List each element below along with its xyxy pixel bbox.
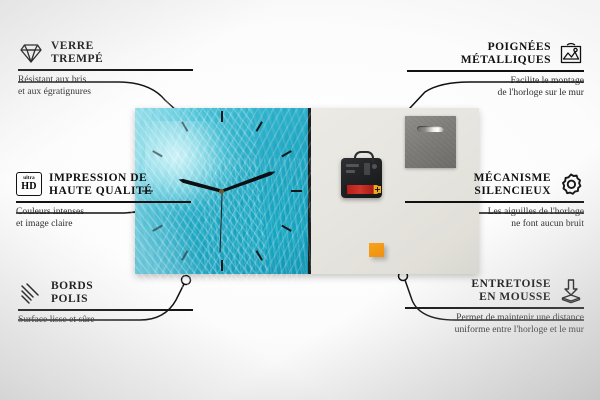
callout-description: Résistant aux briset aux égratignures (18, 74, 193, 97)
callout-description: Les aiguilles de l'horlogene font aucun … (405, 206, 584, 229)
foam-spacer (369, 243, 384, 257)
clock-second-hand (219, 191, 223, 253)
divider (18, 309, 193, 311)
gear-icon (558, 172, 584, 198)
hanging-loop (354, 151, 374, 163)
picture-frame-icon (558, 41, 584, 67)
callout-description: Couleurs intenseset image claire (16, 206, 191, 229)
hanger-slot (417, 126, 444, 132)
divider (16, 201, 191, 203)
hour-tick (152, 150, 163, 157)
divider (405, 201, 584, 203)
hour-tick (221, 111, 223, 122)
mechanism-detail (372, 164, 377, 169)
callout-bords-polis: BORDSPOLIS Surface lisse et sûre (18, 280, 193, 326)
mechanism-detail (364, 163, 370, 175)
mechanism-detail (346, 164, 359, 167)
callout-title: BORDSPOLIS (51, 280, 93, 306)
hour-tick (281, 225, 292, 232)
callout-verre-trempe: VERRETREMPÉ Résistant aux briset aux égr… (18, 40, 193, 97)
quartz-mechanism (341, 158, 382, 198)
infographic-canvas: VERRETREMPÉ Résistant aux briset aux égr… (0, 0, 600, 400)
callout-title: MÉCANISMESILENCIEUX (474, 172, 551, 198)
clock-center-cap (219, 189, 224, 194)
hour-tick (255, 250, 262, 261)
hour-tick (181, 121, 188, 132)
clock-minute-hand (221, 170, 276, 193)
callout-title: IMPRESSION DEHAUTE QUALITÉ (49, 172, 152, 198)
callout-poignees-metalliques: POIGNÉESMÉTALLIQUES Facilite le montaged… (407, 41, 584, 98)
hour-tick (281, 150, 292, 157)
callout-description: Permet de maintenir une distanceuniforme… (405, 312, 584, 335)
hour-tick (255, 121, 262, 132)
battery-plus-marker (374, 186, 381, 193)
divider (407, 70, 584, 72)
callout-entretoise-en-mousse: ENTRETOISEEN MOUSSE Permet de maintenir … (405, 278, 584, 335)
mechanism-detail (346, 170, 355, 173)
hour-tick (291, 190, 302, 192)
hd-label: HD (21, 182, 37, 192)
callout-title: ENTRETOISEEN MOUSSE (471, 278, 551, 304)
arrow-down-pad-icon (558, 278, 584, 304)
callout-title: VERRETREMPÉ (51, 40, 103, 66)
callout-mecanisme-silencieux: MÉCANISMESILENCIEUX Les aiguilles de l'h… (405, 172, 584, 229)
divider (18, 69, 193, 71)
callout-description: Facilite le montagede l'horloge sur le m… (407, 75, 584, 98)
battery (344, 185, 378, 194)
hour-tick (181, 250, 188, 261)
ultra-hd-icon: ultra HD (16, 172, 42, 198)
metal-hanger-plate (405, 116, 456, 168)
callout-description: Surface lisse et sûre (18, 314, 193, 326)
callout-impression-haute-qualite: ultra HD IMPRESSION DEHAUTE QUALITÉ Coul… (16, 172, 191, 229)
diamond-icon (18, 40, 44, 66)
divider (405, 307, 584, 309)
polished-edges-icon (18, 280, 44, 306)
hour-tick (221, 260, 223, 271)
callout-title: POIGNÉESMÉTALLIQUES (461, 41, 551, 67)
